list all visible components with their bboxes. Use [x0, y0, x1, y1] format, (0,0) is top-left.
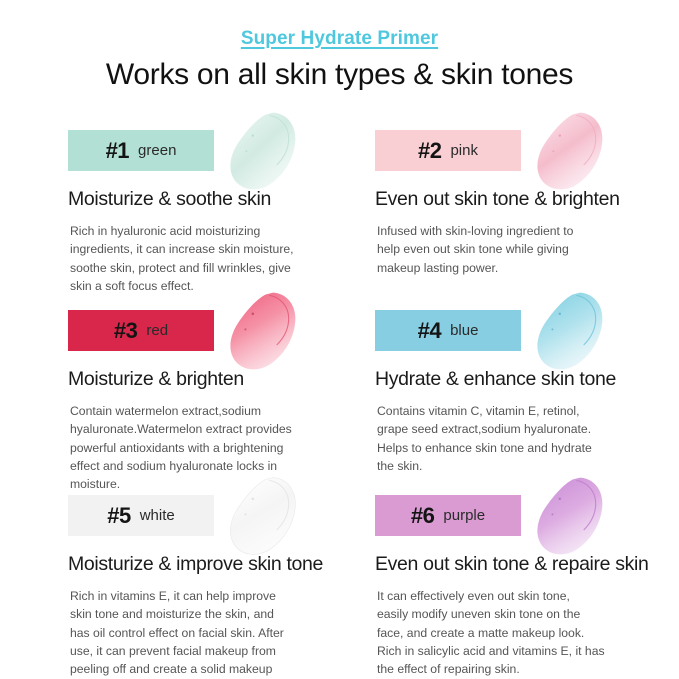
benefit-title: Even out skin tone & repaire skin: [375, 553, 661, 575]
benefit-card: #1 green Moisturize & soothe skin Rich i…: [68, 112, 354, 292]
page-headline: Works on all skin types & skin tones: [0, 58, 679, 93]
body-line: Contains vitamin C, vitamin E, retinol,: [377, 402, 639, 420]
badge-color-name: pink: [450, 143, 478, 158]
body-line: easily modify uneven skin tone on the: [377, 605, 639, 623]
color-badge: #2 pink: [375, 130, 521, 171]
benefit-card: #2 pink Even out skin tone & brighten In…: [375, 112, 661, 292]
body-line: Rich in vitamins E, it can help improve: [70, 587, 332, 605]
badge-number: #2: [418, 140, 441, 162]
benefit-title: Hydrate & enhance skin tone: [375, 368, 661, 390]
swatch-smear-icon: [216, 108, 308, 200]
body-line: peeling off and create a solid makeup: [70, 660, 332, 678]
benefit-card: #4 blue Hydrate & enhance skin tone Cont…: [375, 292, 661, 477]
body-line: use, it can prevent facial makeup from: [70, 642, 332, 660]
color-badge: #4 blue: [375, 310, 521, 351]
badge-color-name: white: [140, 508, 175, 523]
badge-number: #4: [418, 320, 441, 342]
swatch-smear-icon: [523, 288, 615, 380]
benefit-card: #5 white Moisturize & improve skin tone …: [68, 477, 354, 662]
body-line: face, and create a matte makeup look.: [377, 624, 639, 642]
body-line: skin tone and moisturize the skin, and: [70, 605, 332, 623]
badge-number: #3: [114, 320, 137, 342]
body-line: the skin.: [377, 457, 639, 475]
badge-number: #1: [106, 140, 129, 162]
body-line: makeup lasting power.: [377, 259, 639, 277]
body-line: has oil control effect on facial skin. A…: [70, 624, 332, 642]
benefit-description: Rich in vitamins E, it can help improve …: [70, 587, 332, 677]
body-line: It can effectively even out skin tone,: [377, 587, 639, 605]
color-badge: #1 green: [68, 130, 214, 171]
badge-color-name: blue: [450, 323, 478, 338]
benefit-description: Contains vitamin C, vitamin E, retinol, …: [377, 402, 639, 474]
body-line: ingredients, it can increase skin moistu…: [70, 240, 332, 258]
benefit-title: Moisturize & brighten: [68, 368, 354, 390]
badge-color-name: green: [138, 143, 176, 158]
benefit-description: Contain watermelon extract,sodium hyalur…: [70, 402, 332, 492]
body-line: soothe skin, protect and fill wrinkles, …: [70, 259, 332, 277]
benefit-description: Infused with skin-loving ingredient to h…: [377, 222, 639, 276]
color-badge: #6 purple: [375, 495, 521, 536]
swatch-smear-icon: [523, 108, 615, 200]
badge-number: #5: [107, 505, 130, 527]
body-line: grape seed extract,sodium hyaluronate.: [377, 420, 639, 438]
body-line: Rich in hyaluronic acid moisturizing: [70, 222, 332, 240]
benefit-card-grid: #1 green Moisturize & soothe skin Rich i…: [0, 112, 679, 662]
body-line: hyaluronate.Watermelon extract provides: [70, 420, 332, 438]
swatch-smear-icon: [523, 473, 615, 565]
benefit-title: Moisturize & soothe skin: [68, 188, 354, 210]
body-line: Contain watermelon extract,sodium: [70, 402, 332, 420]
body-line: Rich in salicylic acid and vitamins E, i…: [377, 642, 639, 660]
badge-color-name: red: [146, 323, 168, 338]
body-line: Infused with skin-loving ingredient to: [377, 222, 639, 240]
benefit-title: Even out skin tone & brighten: [375, 188, 661, 210]
swatch-smear-icon: [216, 288, 308, 380]
body-line: Helps to enhance skin tone and hydrate: [377, 439, 639, 457]
benefit-card: #3 red Moisturize & brighten Contain wat…: [68, 292, 354, 477]
body-line: moisture.: [70, 475, 332, 493]
benefit-description: It can effectively even out skin tone, e…: [377, 587, 639, 677]
color-badge: #5 white: [68, 495, 214, 536]
body-line: help even out skin tone while giving: [377, 240, 639, 258]
body-line: effect and sodium hyaluronate locks in: [70, 457, 332, 475]
infographic-page: Super Hydrate Primer Works on all skin t…: [0, 0, 679, 679]
color-badge: #3 red: [68, 310, 214, 351]
body-line: the effect of repairing skin.: [377, 660, 639, 678]
product-name-eyebrow: Super Hydrate Primer: [241, 28, 438, 51]
header: Super Hydrate Primer Works on all skin t…: [0, 0, 679, 92]
badge-number: #6: [411, 505, 434, 527]
badge-color-name: purple: [443, 508, 485, 523]
benefit-card: #6 purple Even out skin tone & repaire s…: [375, 477, 661, 662]
benefit-description: Rich in hyaluronic acid moisturizing ing…: [70, 222, 332, 294]
body-line: skin a soft focus effect.: [70, 277, 332, 295]
body-line: powerful antioxidants with a brightening: [70, 439, 332, 457]
benefit-title: Moisturize & improve skin tone: [68, 553, 354, 575]
